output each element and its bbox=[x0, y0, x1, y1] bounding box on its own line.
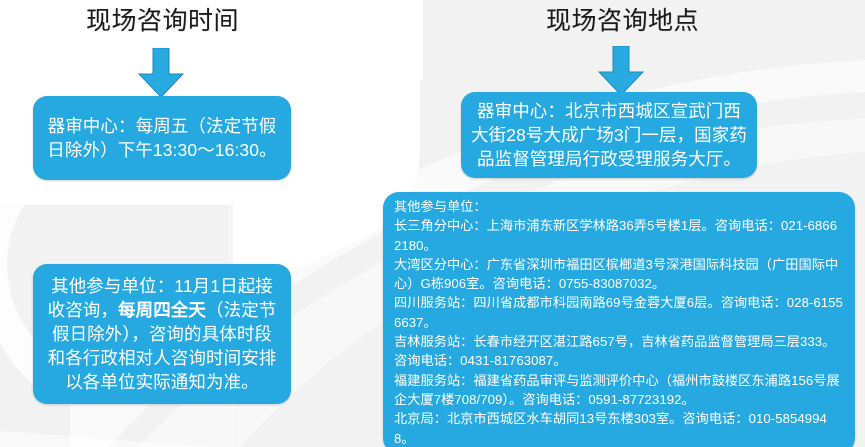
detail-entry-changsanjiao: 长三角分中心：上海市浦东新区学林路36弄5号楼1层。咨询电话：021-68662… bbox=[394, 216, 843, 255]
section-title-time: 现场咨询时间 bbox=[86, 6, 239, 36]
info-box-consult-time-center-text: 器审中心：每周五（法定节假日除外）下午13:30～16:30。 bbox=[43, 114, 281, 162]
info-box-other-units-detail: 其他参与单位： 长三角分中心：上海市浦东新区学林路36弄5号楼1层。咨询电话：0… bbox=[383, 192, 855, 447]
detail-entry-jilin: 吉林服务站：长春市经开区湛江路657号，吉林省药品监督管理局三层333。咨询电话… bbox=[394, 332, 843, 371]
detail-entry-sichuan: 四川服务站：四川省成都市科园南路69号金蓉大厦6层。咨询电话：028-61556… bbox=[394, 293, 843, 332]
info-box-consult-time-others: 其他参与单位：11月1日起接收咨询，每周四全天（法定节假日除外），咨询的具体时段… bbox=[33, 264, 291, 404]
other-units-detail-list: 其他参与单位： 长三角分中心：上海市浦东新区学林路36弄5号楼1层。咨询电话：0… bbox=[394, 197, 843, 447]
down-arrow-icon bbox=[598, 46, 644, 96]
slide-canvas: 现场咨询时间 器审中心：每周五（法定节假日除外）下午13:30～16:30。 其… bbox=[0, 0, 865, 447]
info-box-consult-time-others-text: 其他参与单位：11月1日起接收咨询，每周四全天（法定节假日除外），咨询的具体时段… bbox=[45, 274, 279, 394]
section-title-place: 现场咨询地点 bbox=[546, 6, 699, 36]
down-arrow-icon bbox=[138, 48, 184, 98]
info-box-consult-time-center: 器审中心：每周五（法定节假日除外）下午13:30～16:30。 bbox=[33, 96, 291, 180]
detail-entry-dawanqu: 大湾区分中心：广东省深圳市福田区槟榔道3号深港国际科技园（广田国际中心）G栋90… bbox=[394, 255, 843, 294]
text-bold-weekday: 每周四全天 bbox=[118, 300, 206, 320]
info-box-consult-place-center-text: 器审中心：北京市西城区宣武门西大街28号大成广场3门一层，国家药品监督管理局行政… bbox=[471, 99, 747, 171]
detail-entry-fujian: 福建服务站：福建省药品审评与监测评价中心（福州市鼓楼区东浦路156号展企大厦7楼… bbox=[394, 371, 843, 410]
detail-entry-beijing: 北京局：北京市西城区水车胡同13号东楼303室。咨询电话：010-5854994… bbox=[394, 409, 843, 447]
other-units-heading: 其他参与单位： bbox=[394, 197, 843, 216]
info-box-consult-place-center: 器审中心：北京市西城区宣武门西大街28号大成广场3门一层，国家药品监督管理局行政… bbox=[461, 92, 757, 178]
